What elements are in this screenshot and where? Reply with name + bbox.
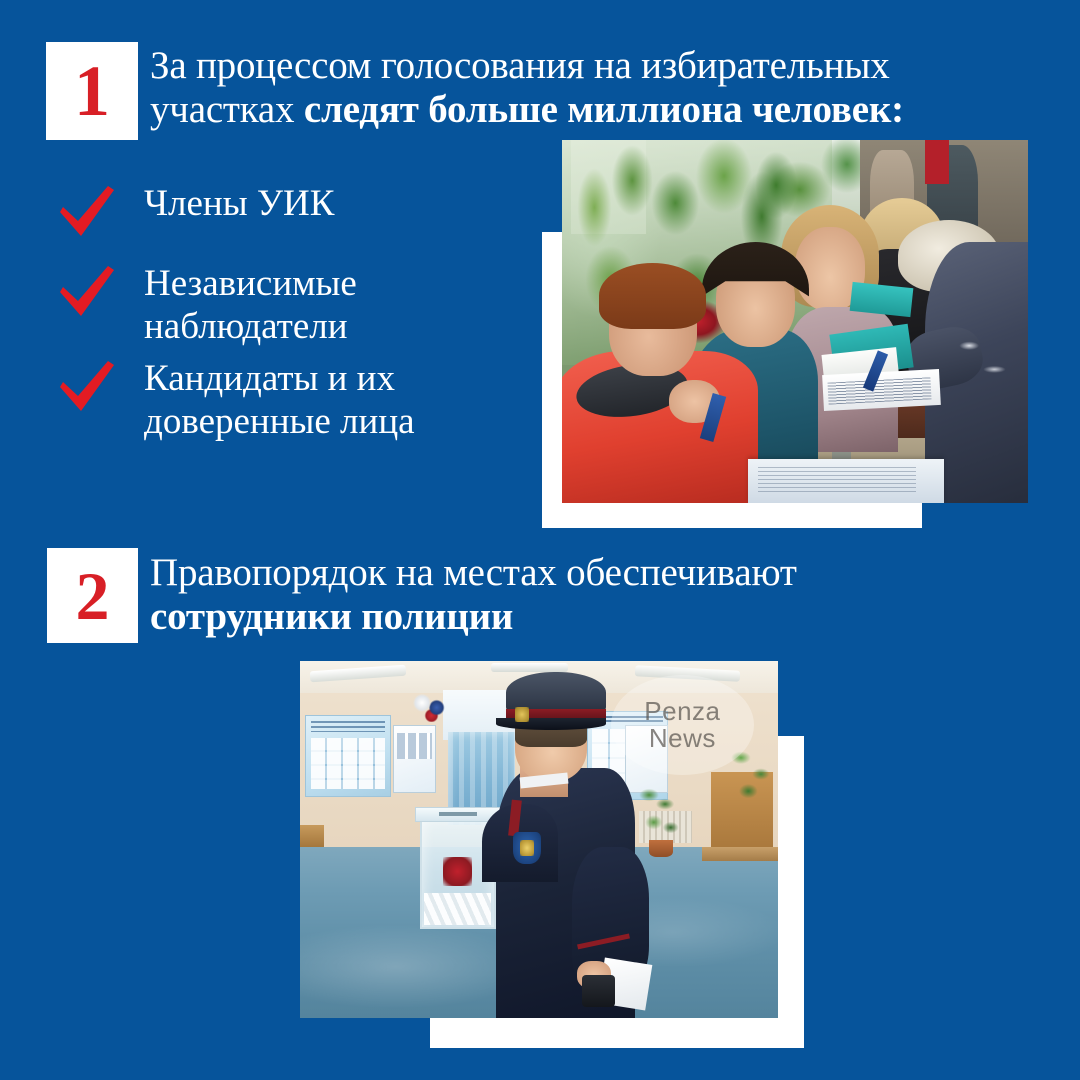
photo-2-flower-pot (649, 840, 673, 858)
list-item: Кандидаты и их доверенные лица (56, 355, 415, 444)
section-number-2: 2 (76, 562, 110, 630)
photo-1-member-1-hair (599, 263, 706, 328)
photo-2-potted-plant (635, 782, 683, 846)
section-heading-2: Правопорядок на местах обеспечивают сотр… (150, 551, 970, 640)
section-number-badge-2: 2 (47, 548, 138, 643)
photo-2-ballot-box-emblem (443, 857, 472, 886)
heading-2-line-1: Правопорядок на местах обеспечивают (150, 551, 970, 595)
list-item-label: Независимые наблюдатели (118, 260, 357, 349)
photo-2-info-board-left-content (311, 738, 385, 789)
heading-1-line-2: участках следят больше миллиона человек: (150, 88, 990, 132)
check-icon (56, 264, 118, 322)
watermark-line-2: News (649, 725, 716, 752)
watermark-line-1: Penza (644, 698, 720, 725)
photo-polling-commission (562, 140, 1028, 503)
list-item-label: Кандидаты и их доверенные лица (118, 355, 415, 444)
check-icon (56, 184, 118, 242)
photo-2-officer-cap-badge (515, 707, 529, 721)
photo-2-officer-radio (582, 975, 615, 1007)
check-icon (56, 359, 118, 417)
photo-1-document-stack-lines (758, 467, 916, 492)
list-item-label: Члены УИК (118, 180, 334, 225)
heading-1-line-2-regular: участках (150, 88, 304, 131)
photo-2-ballot-box-papers (424, 893, 491, 925)
section-number-badge-1: 1 (46, 42, 138, 140)
photo-1-red-banner (925, 140, 948, 184)
photo-2-tricolor-balloons (410, 690, 453, 722)
photo-2-info-board-left (305, 715, 391, 797)
photo-1-voter-coat-pattern (944, 322, 1028, 402)
heading-1-line-2-bold: следят больше миллиона человек: (304, 88, 904, 131)
photo-2-side-table (300, 825, 324, 846)
section-number-1: 1 (74, 55, 110, 127)
heading-1-line-1: За процессом голосования на избирательны… (150, 44, 990, 88)
list-item: Независимые наблюдатели (56, 260, 357, 349)
photo-2-candidate-board (393, 725, 436, 793)
photo-2-info-board-left-title (311, 721, 385, 732)
photo-2-ceiling-lamp (491, 663, 567, 672)
list-item: Члены УИК (56, 180, 334, 242)
photo-police-officer: Penza News (300, 661, 778, 1018)
photo-2-candidate-photos (397, 733, 431, 759)
infographic-canvas: 1 За процессом голосования на избиратель… (0, 0, 1080, 1080)
photo-2-officer-patch-emblem (520, 840, 534, 856)
watermark-penza-news: Penza News (611, 675, 754, 775)
photo-2-ballot-box-slot (439, 812, 477, 815)
section-heading-1: За процессом голосования на избирательны… (150, 44, 990, 133)
heading-2-line-2: сотрудники полиции (150, 595, 970, 639)
photo-2-stage-step (702, 847, 778, 861)
